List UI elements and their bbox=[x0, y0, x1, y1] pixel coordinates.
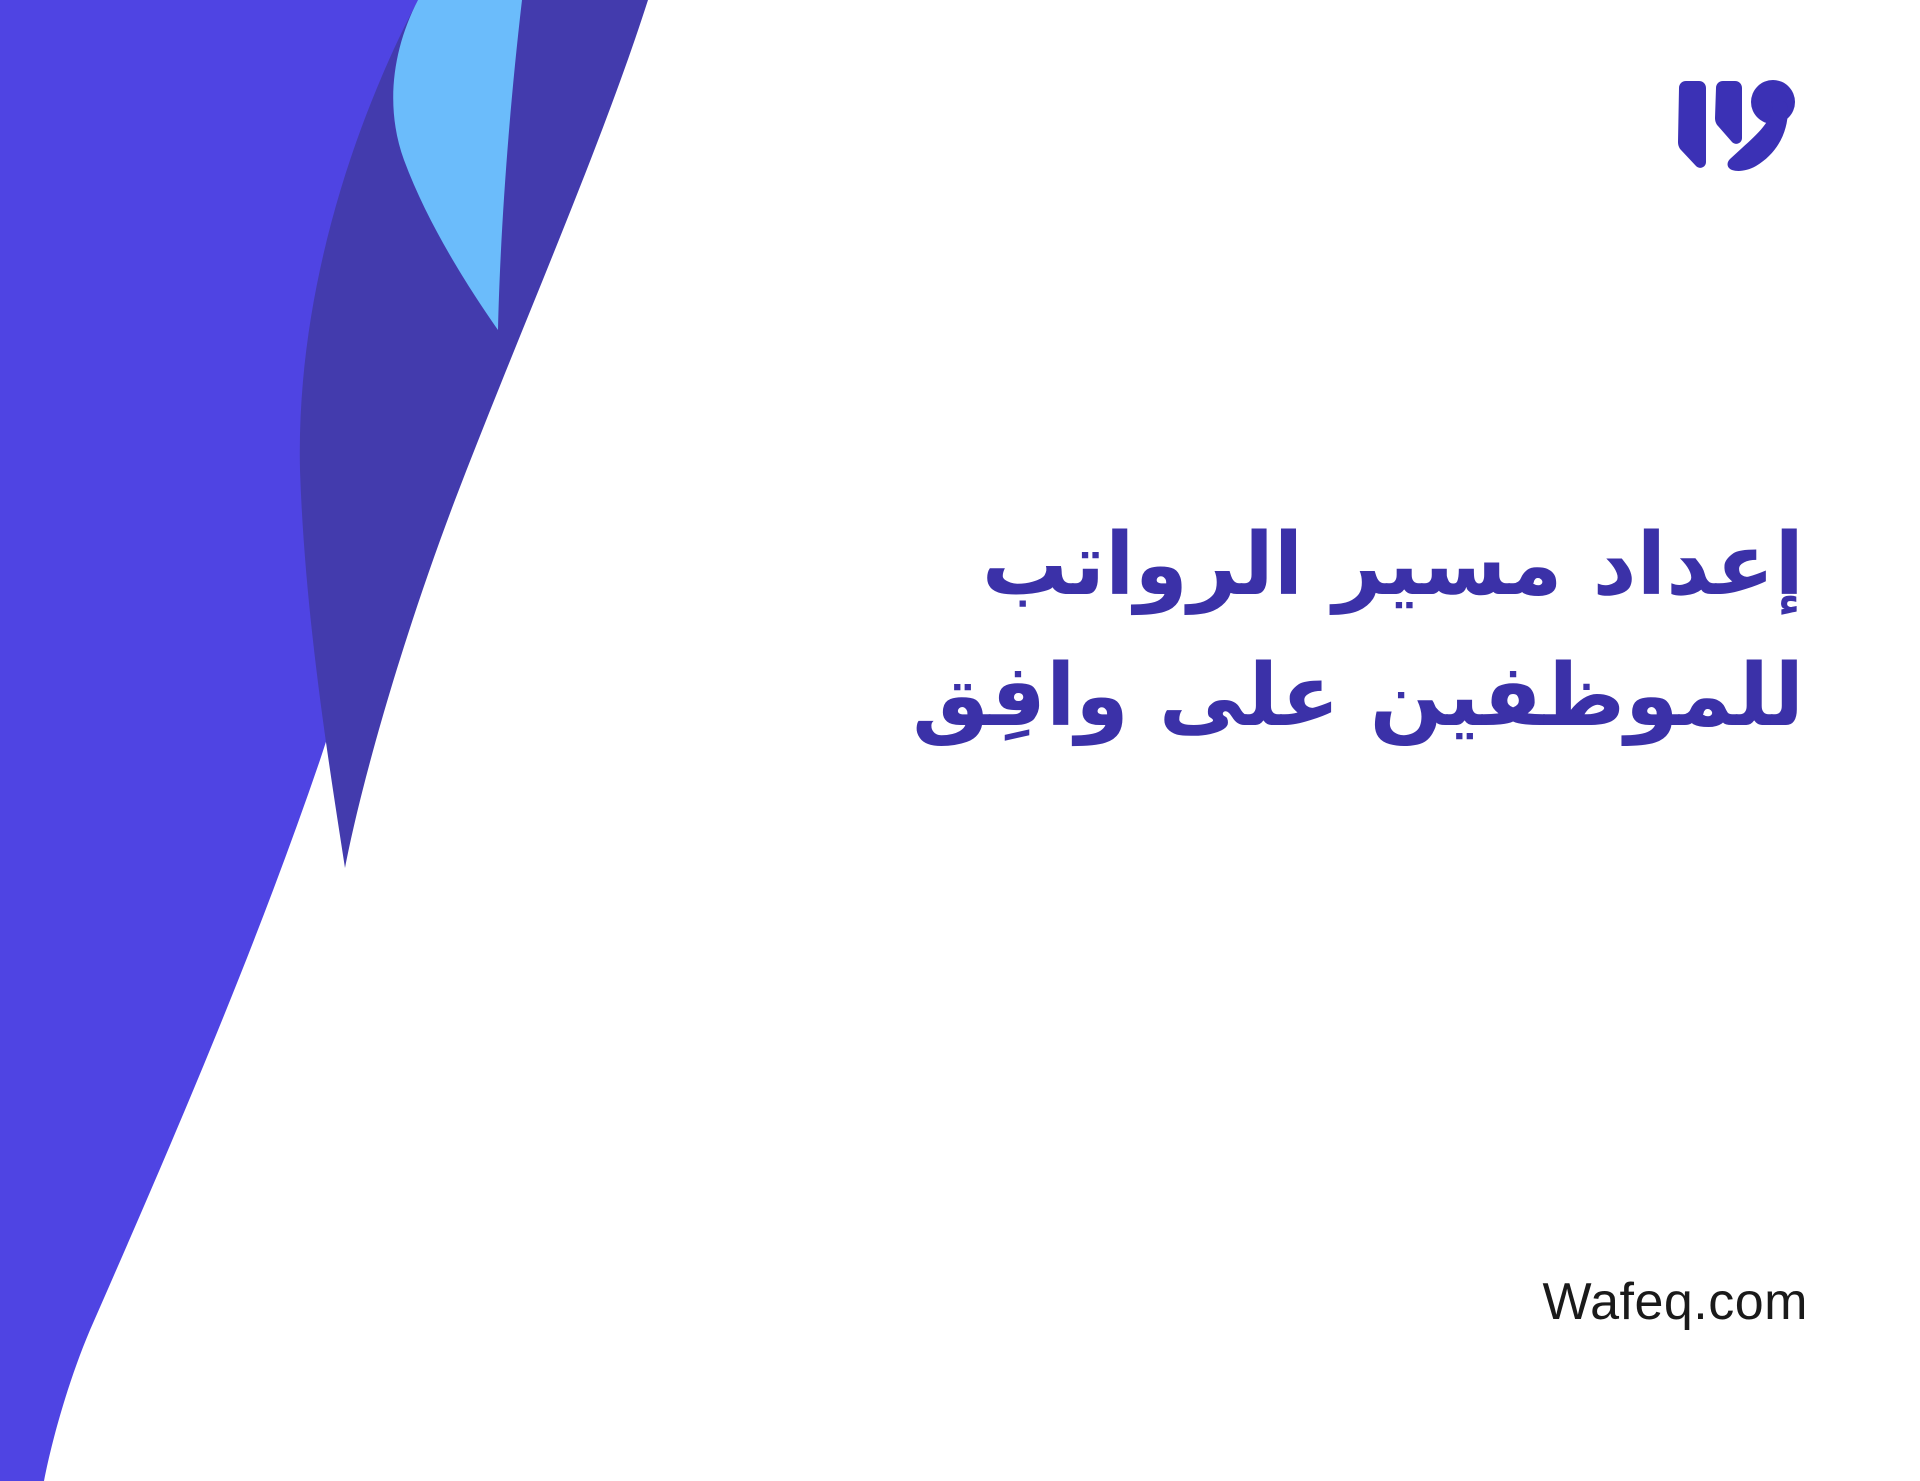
slide-canvas: إعداد مسير الرواتب للموظفين على وافِق Wa… bbox=[0, 0, 1920, 1481]
site-url-label: Wafeq.com bbox=[1542, 1272, 1808, 1332]
wafeq-logo-glyph bbox=[1678, 80, 1795, 171]
page-title-line-2: للموظفين على وافِق bbox=[804, 631, 1804, 762]
wafeq-logo[interactable] bbox=[1672, 78, 1804, 174]
page-title-line-1: إعداد مسير الرواتب bbox=[804, 500, 1804, 631]
page-title: إعداد مسير الرواتب للموظفين على وافِق bbox=[804, 500, 1804, 761]
